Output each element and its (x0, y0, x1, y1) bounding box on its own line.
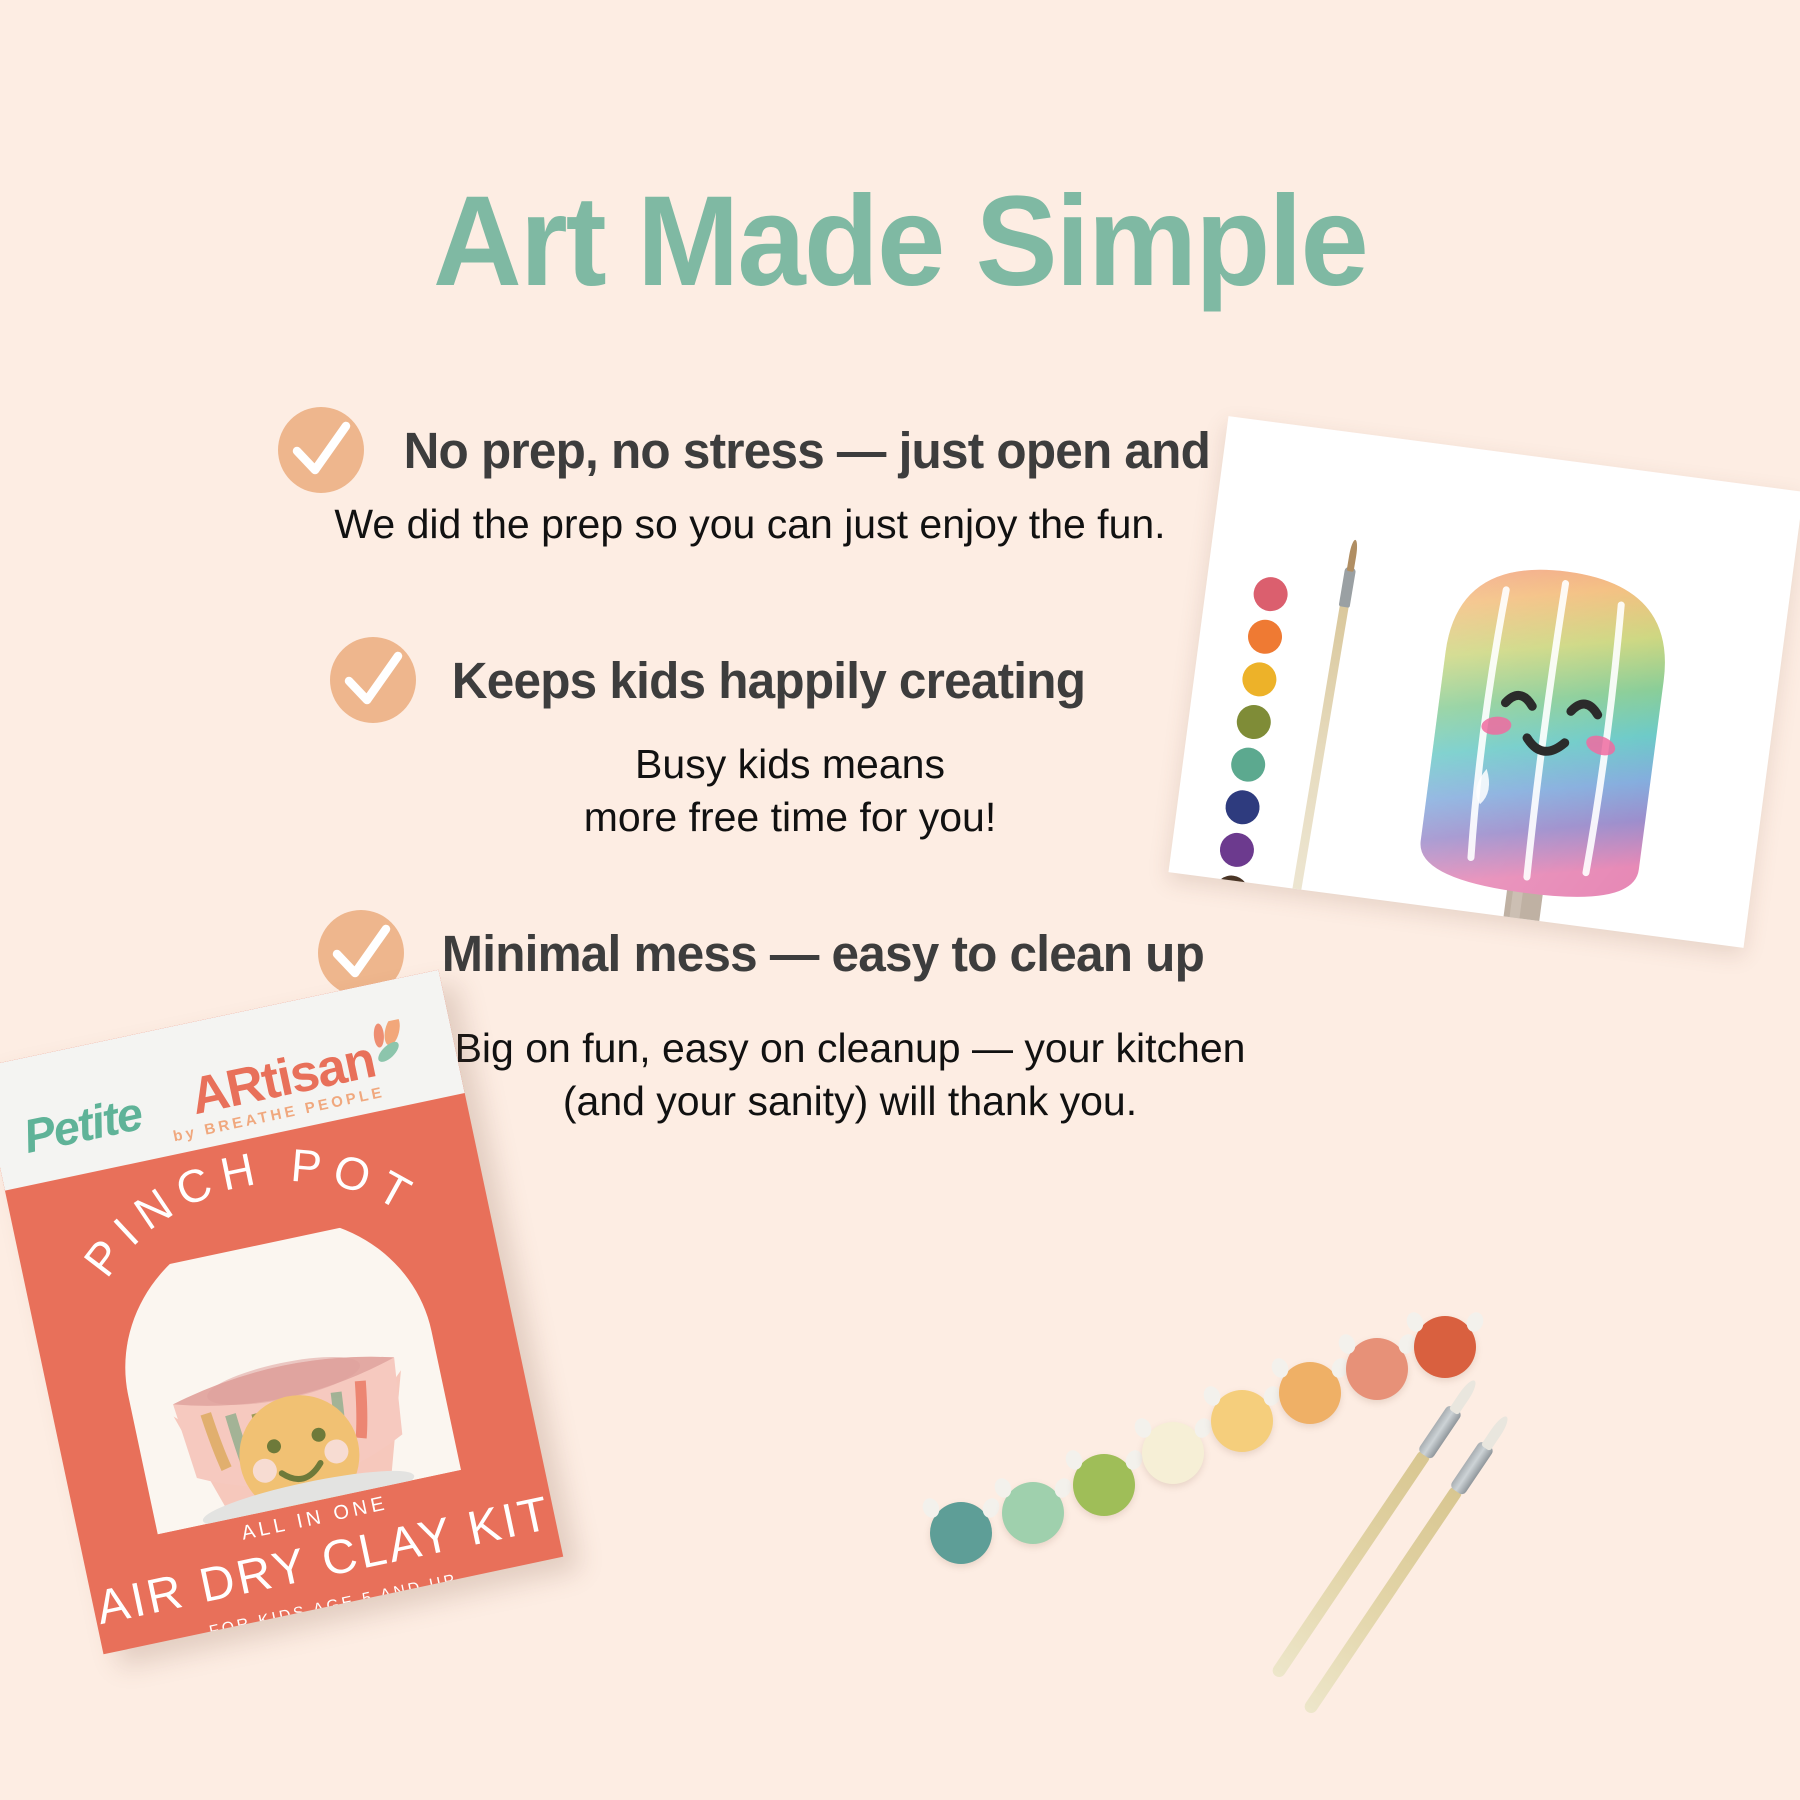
benefit-title: No prep, no stress — just open and go (404, 421, 1282, 480)
check-icon (278, 407, 364, 493)
swatch-dot (1218, 831, 1256, 869)
benefit-row-no-prep: No prep, no stress — just open and go (278, 407, 1295, 493)
paint-dot (1002, 1482, 1064, 1544)
benefit-body: We did the prep so you can just enjoy th… (300, 498, 1200, 551)
artwork-card (1168, 416, 1800, 948)
swatch-dot (1235, 703, 1273, 741)
check-icon (330, 637, 416, 723)
benefit-body: Big on fun, easy on cleanup — your kitch… (380, 1022, 1320, 1129)
paint-dot (1346, 1338, 1408, 1400)
swatch-dot (1229, 746, 1267, 784)
paint-dot (1414, 1316, 1476, 1378)
paint-dot (1279, 1362, 1341, 1424)
check-icon-glyph (343, 651, 403, 709)
benefit-title: Keeps kids happily creating (452, 651, 1085, 710)
paintbrush-icon (1291, 600, 1349, 897)
swatch-dot (1246, 618, 1284, 656)
benefit-body: Busy kids means more free time for you! (470, 738, 1110, 845)
swatch-dot (1240, 660, 1278, 698)
popsicle-illustration (1364, 538, 1718, 948)
paint-dot (930, 1502, 992, 1564)
artwork-swatch-strip (1211, 575, 1290, 920)
check-icon-glyph (291, 421, 351, 479)
infographic-canvas: Art Made Simple No prep, no stress — jus… (0, 0, 1800, 1800)
paint-dot (1211, 1390, 1273, 1452)
swatch-dot (1252, 575, 1290, 613)
swatch-dot (1223, 788, 1261, 826)
swatch-dot (1212, 873, 1250, 911)
benefit-row-minimal-mess: Minimal mess — easy to clean up (318, 910, 1216, 996)
paint-dot (1073, 1454, 1135, 1516)
page-title: Art Made Simple (36, 178, 1764, 306)
benefit-title: Minimal mess — easy to clean up (442, 924, 1204, 983)
check-icon-glyph (331, 924, 391, 982)
paint-dot (1142, 1422, 1204, 1484)
brand-name-first: Petite (19, 1085, 147, 1164)
benefit-row-keeps-kids-creating: Keeps kids happily creating (330, 637, 1095, 723)
